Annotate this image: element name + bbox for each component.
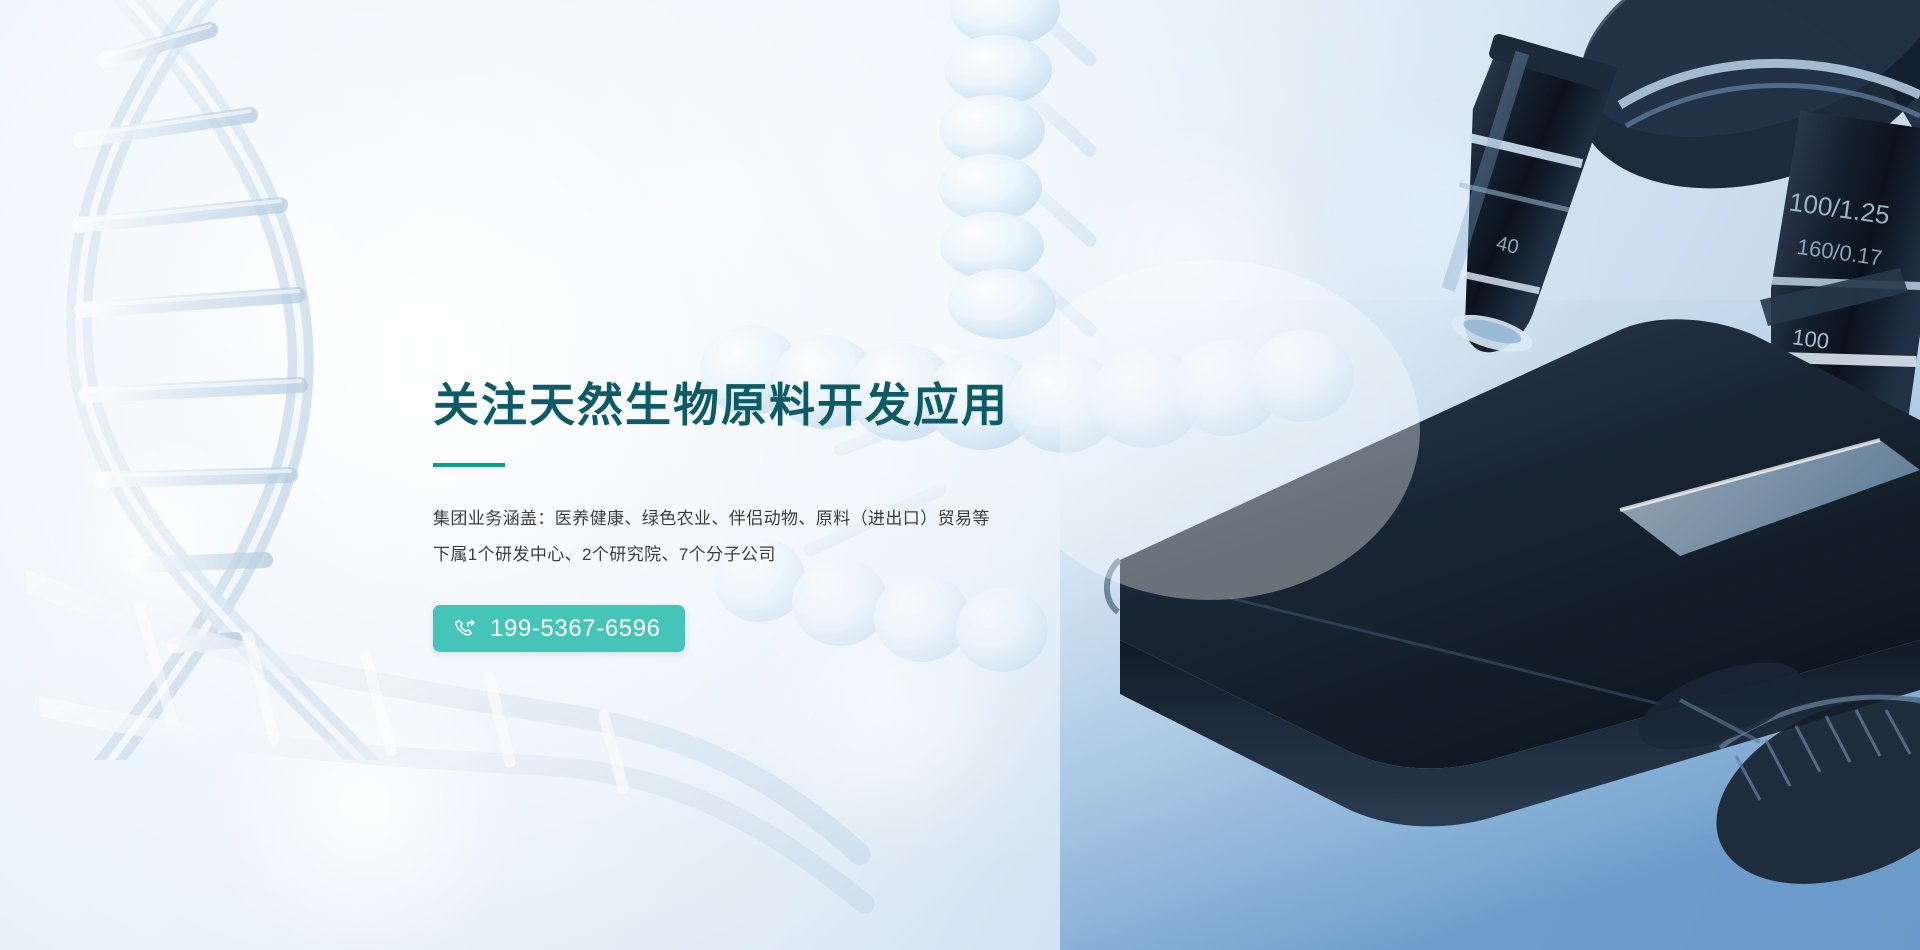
phone-number-label: 199-5367-6596: [490, 617, 661, 641]
page-title: 关注天然生物原料开发应用: [433, 378, 1193, 432]
hero-content: 关注天然生物原料开发应用 集团业务涵盖：医养健康、绿色农业、伴侣动物、原料（进出…: [433, 378, 1193, 652]
phone-cta-button[interactable]: 199-5367-6596: [433, 605, 685, 652]
hero-banner: 40 100/1.25 160/0.17 100: [0, 0, 1920, 950]
subtitle-line-1: 集团业务涵盖：医养健康、绿色农业、伴侣动物、原料（进出口）贸易等: [433, 501, 1193, 537]
title-divider: [433, 463, 505, 467]
phone-forward-icon: [453, 617, 477, 641]
subtitle-line-2: 下属1个研发中心、2个研究院、7个分子公司: [433, 537, 1193, 573]
hero-subtitle: 集团业务涵盖：医养健康、绿色农业、伴侣动物、原料（进出口）贸易等 下属1个研发中…: [433, 501, 1193, 573]
